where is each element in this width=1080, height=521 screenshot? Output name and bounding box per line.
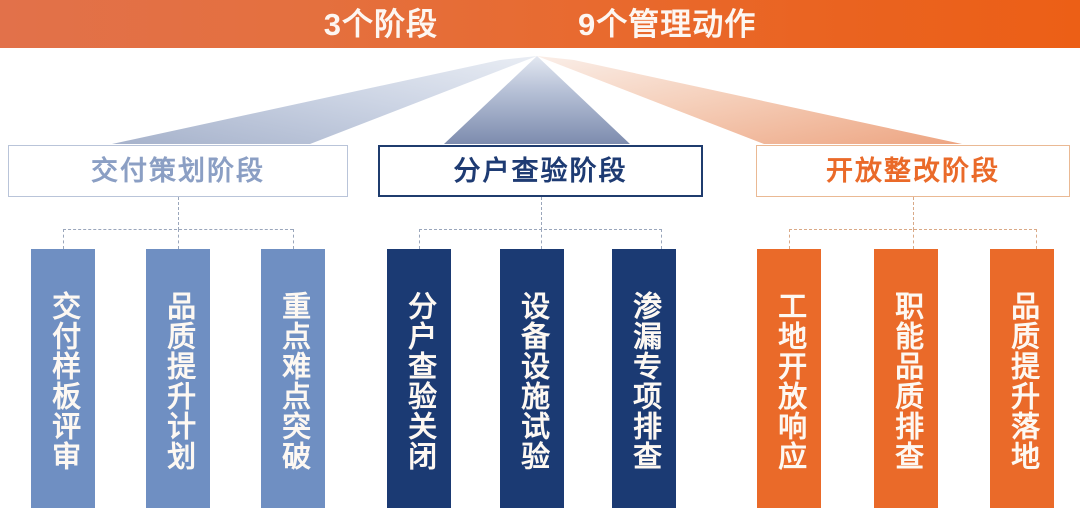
phase-header-box-2[interactable]: 分户查验阶段	[378, 145, 703, 197]
action-item-label: 品质提升计划	[162, 291, 193, 471]
action-item-box[interactable]: 渗漏专项排查	[612, 249, 676, 508]
connector-drop-1-2	[178, 229, 179, 249]
action-items-row-3: 工地开放响应 职能品质排查 品质提升落地	[756, 249, 1070, 509]
connector-drop-1-1	[63, 229, 64, 249]
connector-tree-3	[756, 197, 1070, 249]
connector-drop-2-3	[661, 229, 662, 249]
action-item-label: 重点难点突破	[277, 291, 308, 471]
action-item-label: 分户查验关闭	[403, 291, 434, 471]
connector-stem-1	[178, 197, 179, 230]
connector-drop-3-1	[789, 229, 790, 249]
connector-tree-2	[378, 197, 703, 249]
phase-header-box-3[interactable]: 开放整改阶段	[756, 145, 1070, 197]
action-item-box[interactable]: 品质提升计划	[146, 249, 210, 508]
connector-stem-3	[913, 197, 914, 230]
banner-action-count-label: 9个管理动作	[578, 9, 756, 40]
action-item-box[interactable]: 品质提升落地	[990, 249, 1054, 508]
phase-column-1: 交付策划阶段 交付样板评审 品质提升计划 重点难点突破	[8, 145, 348, 509]
phase-header-box-1[interactable]: 交付策划阶段	[8, 145, 348, 197]
phase-column-2: 分户查验阶段 分户查验关闭 设备设施试验 渗漏专项排查	[378, 145, 703, 509]
action-item-box[interactable]: 分户查验关闭	[387, 249, 451, 508]
connector-drop-3-3	[1036, 229, 1037, 249]
phase-column-3: 开放整改阶段 工地开放响应 职能品质排查 品质提升落地	[756, 145, 1070, 509]
connector-drop-2-1	[419, 229, 420, 249]
action-items-row-2: 分户查验关闭 设备设施试验 渗漏专项排查	[378, 249, 703, 509]
banner-stage-count-label: 3个阶段	[324, 9, 438, 40]
action-item-label: 职能品质排查	[890, 291, 921, 471]
action-item-label: 渗漏专项排查	[628, 291, 659, 471]
action-item-label: 工地开放响应	[773, 291, 804, 471]
connector-drop-2-2	[541, 229, 542, 249]
action-items-row-1: 交付样板评审 品质提升计划 重点难点突破	[8, 249, 348, 509]
connector-drop-1-3	[293, 229, 294, 249]
connector-stem-2	[541, 197, 542, 230]
fan-connector-graphic	[0, 48, 1080, 148]
phase-title-3: 开放整改阶段	[826, 158, 1000, 185]
connector-drop-3-2	[913, 229, 914, 249]
action-item-label: 交付样板评审	[47, 291, 78, 471]
connector-tree-1	[8, 197, 348, 249]
action-item-label: 品质提升落地	[1006, 291, 1037, 471]
action-item-box[interactable]: 交付样板评审	[31, 249, 95, 508]
phase-title-2: 分户查验阶段	[454, 158, 628, 185]
banner-content: 3个阶段 9个管理动作	[0, 0, 1080, 48]
action-item-box[interactable]: 职能品质排查	[874, 249, 938, 508]
action-item-box[interactable]: 重点难点突破	[261, 249, 325, 508]
action-item-box[interactable]: 设备设施试验	[500, 249, 564, 508]
action-item-label: 设备设施试验	[516, 291, 547, 471]
action-item-box[interactable]: 工地开放响应	[757, 249, 821, 508]
header-banner: 3个阶段 9个管理动作	[0, 0, 1080, 48]
phase-title-1: 交付策划阶段	[91, 158, 265, 185]
